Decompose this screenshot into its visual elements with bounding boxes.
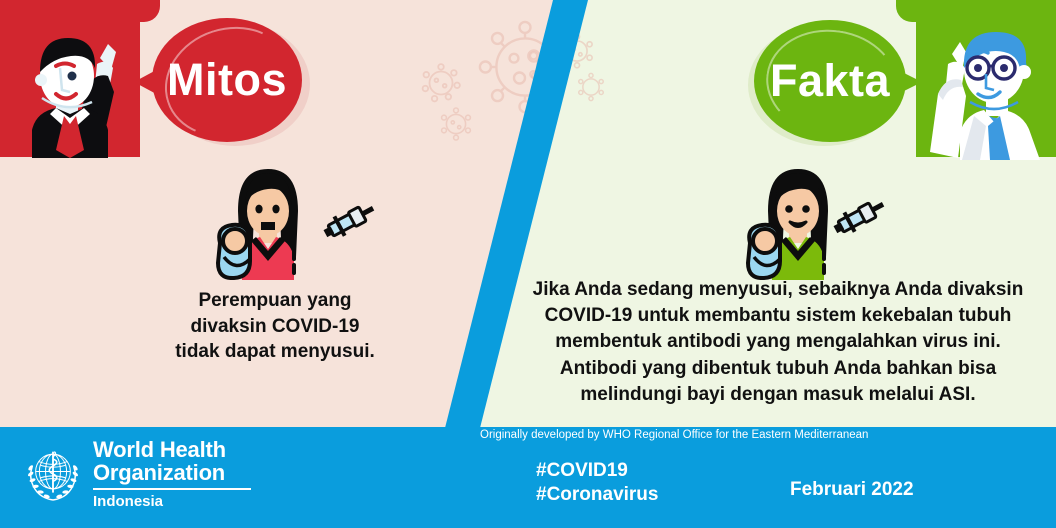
myth-statement: Perempuan yang divaksin COVID-19 tidak d…: [110, 288, 440, 365]
syringe-icon-myth: [322, 196, 380, 249]
fact-statement-line: Antibodi yang dibentuk tubuh Anda bahkan…: [528, 356, 1028, 382]
who-wordmark: World Health Organization Indonesia: [93, 439, 251, 510]
who-line-2: Organization: [93, 462, 251, 485]
doctor-pointing-up-illustration: [908, 20, 1048, 165]
myth-statement-line: tidak dapat menyusui.: [110, 339, 440, 365]
myth-statement-line: divaksin COVID-19: [110, 314, 440, 340]
fact-speech-bubble: Fakta: [754, 20, 919, 148]
who-divider-rule: [93, 488, 251, 490]
fact-statement-line: membentuk antibodi yang mengalahkan viru…: [528, 329, 1028, 355]
hashtag-covid19: #COVID19: [536, 459, 658, 483]
fact-statement-line: melindungi bayi dengan masuk melalui ASI…: [528, 382, 1028, 408]
publication-date: Februari 2022: [790, 479, 914, 501]
coronavirus-watermark-small-a: [418, 60, 464, 106]
sad-mother-with-baby-illustration: [212, 165, 322, 285]
who-logo: World Health Organization Indonesia: [22, 439, 251, 510]
fact-top-tab: [896, 0, 1056, 22]
infographic-poster: Mitos Fakta: [0, 0, 1056, 528]
hashtags: #COVID19 #Coronavirus: [536, 459, 658, 508]
fact-statement: Jika Anda sedang menyusui, sebaiknya And…: [528, 277, 1028, 408]
myth-bubble-tail: [134, 68, 160, 96]
attribution-text: Originally developed by WHO Regional Off…: [480, 429, 868, 441]
fact-bubble-body: Fakta: [754, 20, 906, 142]
man-pointing-up-illustration: [12, 18, 147, 163]
fact-bubble-arc: [759, 21, 904, 144]
who-line-1: World Health: [93, 439, 251, 462]
myth-bubble-body: Mitos: [152, 18, 302, 142]
who-country-label: Indonesia: [93, 493, 251, 510]
myth-statement-line: Perempuan yang: [110, 288, 440, 314]
fact-bubble-tail: [894, 68, 922, 96]
fact-statement-line: Jika Anda sedang menyusui, sebaiknya And…: [528, 277, 1028, 303]
syringe-icon-fact: [832, 192, 890, 245]
myth-bubble-arc: [150, 11, 307, 154]
coronavirus-watermark-small-b: [436, 104, 476, 144]
fact-statement-line: COVID-19 untuk membantu sistem kekebalan…: [528, 303, 1028, 329]
hashtag-coronavirus: #Coronavirus: [536, 483, 658, 507]
footer-bar: World Health Organization Indonesia Orig…: [0, 427, 1056, 528]
myth-speech-bubble: Mitos: [152, 18, 312, 148]
coronavirus-watermark-small-e: [574, 70, 608, 104]
who-emblem-icon: [22, 443, 84, 505]
